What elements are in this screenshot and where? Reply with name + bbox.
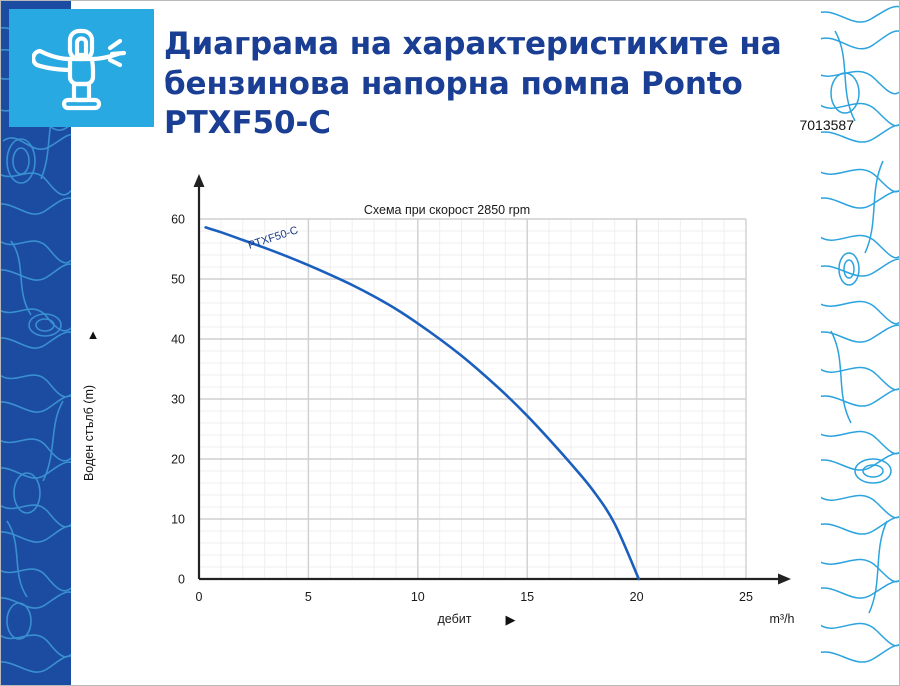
y-tick-label: 60 <box>171 213 185 227</box>
x-axis-label: дебит <box>438 612 472 626</box>
x-axis-label-marker: ▶ <box>506 612 516 627</box>
curve-annotation: PTXF50-C <box>247 224 300 251</box>
x-tick-label: 25 <box>739 590 753 604</box>
x-axis-arrow <box>778 574 791 585</box>
brand-logo-tile <box>9 9 154 127</box>
y-axis-label: Воден стълб (m) <box>82 385 96 481</box>
x-tick-label: 0 <box>196 590 203 604</box>
pump-performance-chart: Схема при скорост 2850 rpm 0510152025010… <box>71 161 823 641</box>
series-curve-ptxf50-c <box>206 227 639 579</box>
y-tick-label: 40 <box>171 333 185 347</box>
y-tick-label: 20 <box>171 453 185 467</box>
x-axis-unit: m³/h <box>770 612 795 626</box>
y-tick-label: 0 <box>178 573 185 587</box>
x-tick-label: 20 <box>630 590 644 604</box>
x-tick-label: 15 <box>520 590 534 604</box>
y-axis-label-marker: ▲ <box>87 327 100 342</box>
chart-canvas: 05101520250102030405060дебит▶m³/hВоден с… <box>71 161 823 641</box>
x-tick-label: 10 <box>411 590 425 604</box>
diagram-page: Диаграма на характеристиките на бензинов… <box>0 0 900 686</box>
article-number: 7013587 <box>164 117 854 133</box>
y-tick-label: 30 <box>171 393 185 407</box>
y-tick-label: 50 <box>171 273 185 287</box>
y-axis-arrow <box>194 174 205 187</box>
sprinkler-pump-icon <box>32 25 132 111</box>
y-tick-label: 10 <box>171 513 185 527</box>
x-tick-label: 5 <box>305 590 312 604</box>
